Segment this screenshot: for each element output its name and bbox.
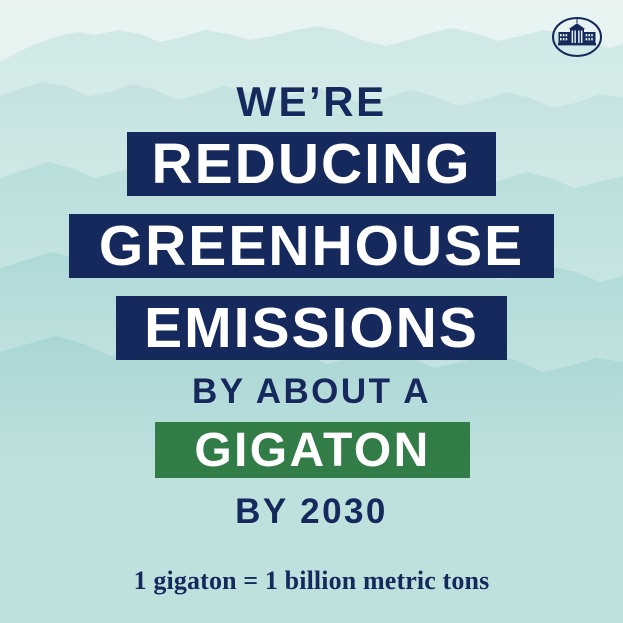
headline-line-were: WE’RE	[0, 78, 623, 126]
headline-line-reducing: REDUCING	[127, 132, 496, 196]
footnote-text: 1 gigaton = 1 billion metric tons	[0, 566, 623, 596]
headline-line-gigaton: GIGATON	[155, 422, 470, 478]
headline-stack: WE’RE REDUCING GREENHOUSE EMISSIONS BY A…	[0, 0, 623, 623]
headline-line-emissions: EMISSIONS	[116, 296, 507, 360]
headline-line-by-about-a: BY ABOUT A	[0, 372, 623, 412]
headline-line-greenhouse: GREENHOUSE	[69, 214, 554, 278]
headline-line-by-2030: BY 2030	[0, 492, 623, 532]
greenhouse-emissions-poster: WE’RE REDUCING GREENHOUSE EMISSIONS BY A…	[0, 0, 623, 623]
